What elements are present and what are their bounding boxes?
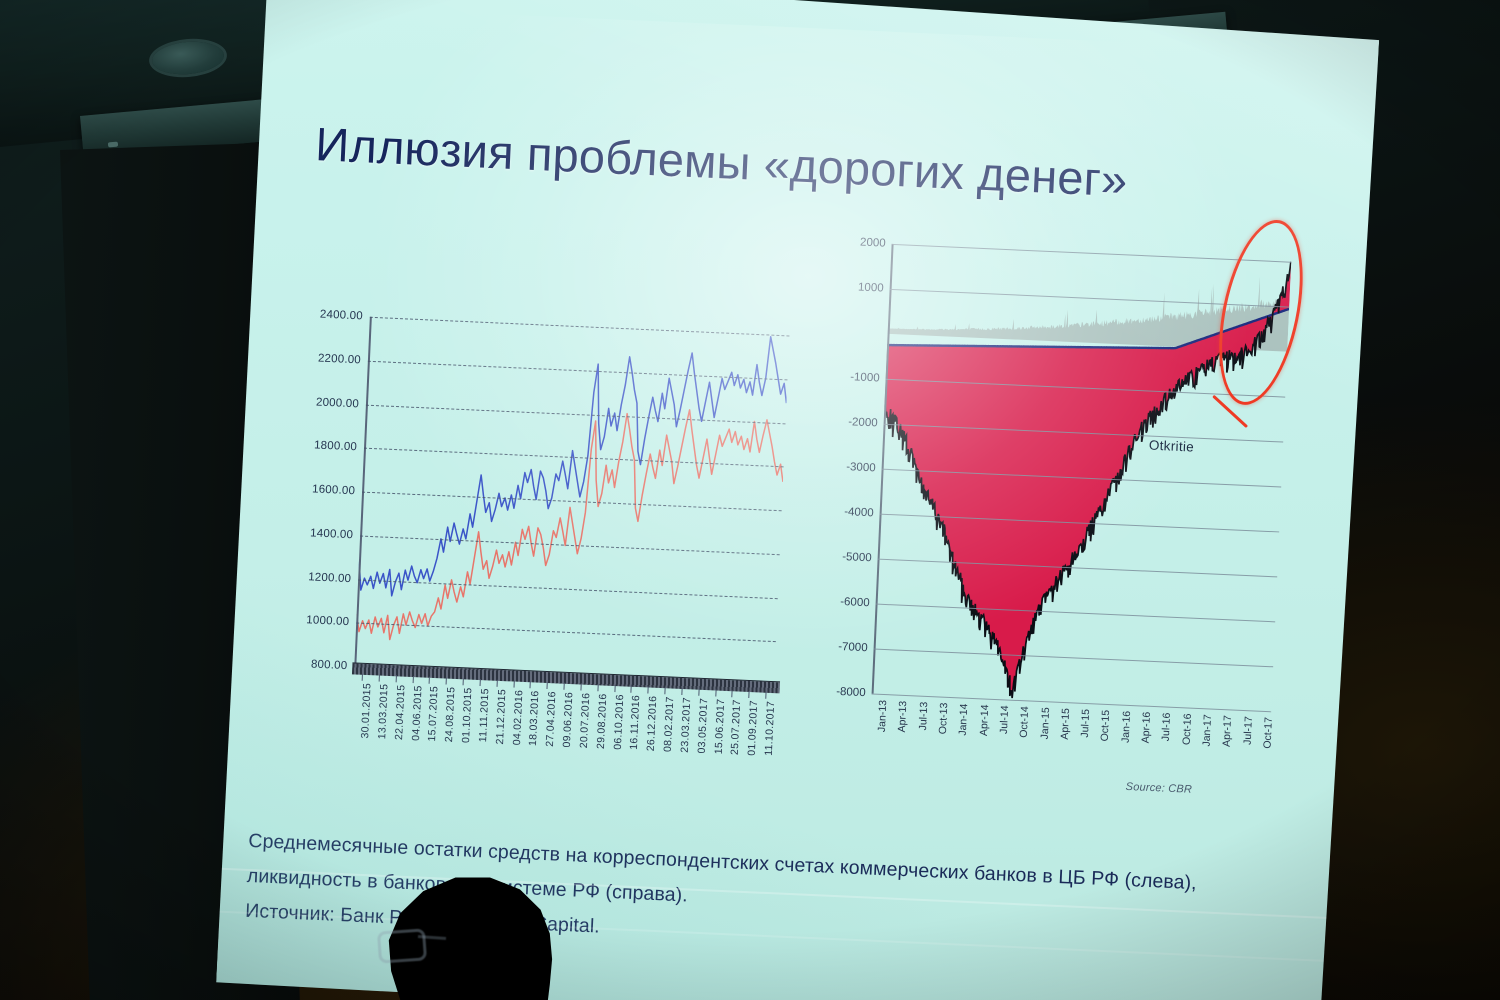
- x-tick-mark: [563, 683, 564, 690]
- y-tick-label: -3000: [846, 461, 876, 474]
- y-tick-label: -6000: [840, 596, 870, 609]
- x-tick-label: 03.05.2017: [695, 698, 709, 754]
- x-tick-mark: [395, 675, 396, 682]
- projection-screen: Иллюзия проблемы «дорогих денег» 2400.00…: [216, 0, 1381, 1000]
- slide: Иллюзия проблемы «дорогих денег» 2400.00…: [216, 0, 1381, 1000]
- x-tick-label: 01.09.2017: [746, 700, 760, 756]
- x-tick-label: Apr-16: [1140, 711, 1153, 743]
- chart-right-x-tick-labels: Jan-13Apr-13Jul-13Oct-13Jan-14Apr-14Jul-…: [867, 699, 1271, 812]
- x-tick-mark: [530, 681, 531, 688]
- y-tick-label: 1000: [858, 281, 884, 294]
- x-tick-mark: [429, 677, 430, 684]
- x-tick-mark: [631, 686, 632, 693]
- x-tick-label: 01.10.2015: [460, 687, 474, 743]
- chart-left-plot: 2400.002200.002000.001800.001600.001400.…: [354, 317, 789, 685]
- x-tick-label: Jul-16: [1160, 712, 1173, 741]
- x-tick-label: 16.11.2016: [628, 695, 642, 750]
- y-tick-label: -5000: [842, 551, 872, 564]
- x-tick-label: Jul-13: [917, 702, 930, 731]
- x-tick-label: 09.06.2016: [561, 692, 575, 748]
- x-tick-label: Apr-14: [977, 704, 990, 736]
- x-tick-label: 15.07.2015: [426, 686, 440, 742]
- x-tick-label: 30.01.2015: [359, 683, 373, 739]
- x-tick-label: 11.10.2017: [763, 701, 777, 756]
- glasses-icon: [377, 928, 427, 963]
- x-tick-label: 08.02.2017: [662, 696, 676, 752]
- x-tick-label: Jan-15: [1038, 707, 1051, 740]
- x-tick-label: Apr-17: [1221, 715, 1234, 747]
- x-tick-mark: [765, 692, 766, 699]
- x-tick-label: 27.04.2016: [544, 691, 558, 747]
- chart-left-x-tick-labels: 30.01.201513.03.201522.04.201504.06.2015…: [349, 682, 773, 811]
- x-tick-label: Apr-13: [896, 701, 909, 733]
- x-tick-label: 20.07.2016: [578, 692, 592, 748]
- x-tick-mark: [378, 675, 379, 682]
- y-tick-label: 1200.00: [308, 571, 351, 585]
- y-tick-label: -7000: [838, 641, 868, 654]
- x-tick-label: Apr-15: [1059, 708, 1072, 740]
- x-tick-label: Jan-17: [1201, 714, 1214, 747]
- x-tick-label: Jul-17: [1241, 716, 1254, 745]
- photo-scene: Иллюзия проблемы «дорогих денег» 2400.00…: [0, 0, 1500, 1000]
- x-tick-label: 25.07.2017: [729, 699, 743, 755]
- chart-left: 2400.002200.002000.001800.001600.001400.…: [276, 296, 808, 818]
- x-tick-mark: [698, 689, 699, 696]
- x-tick-label: 24.08.2015: [443, 687, 457, 743]
- y-tick-label: -1000: [850, 371, 880, 384]
- x-tick-mark: [664, 687, 665, 694]
- x-tick-label: Oct-17: [1262, 717, 1275, 749]
- x-tick-label: 15.06.2017: [712, 698, 726, 754]
- page-title: Иллюзия проблемы «дорогих денег»: [314, 116, 1216, 211]
- x-tick-mark: [479, 679, 480, 686]
- y-tick-label: -4000: [844, 506, 874, 519]
- chart-right: 20001000-1000-2000-3000-4000-5000-6000-7…: [803, 227, 1327, 809]
- x-tick-label: 04.02.2016: [510, 690, 524, 746]
- x-tick-label: Oct-15: [1099, 710, 1112, 742]
- x-tick-label: Jul-14: [998, 705, 1011, 734]
- y-tick-label: 1800.00: [314, 440, 357, 454]
- y-tick-label: -8000: [836, 686, 866, 699]
- x-tick-label: Oct-13: [937, 702, 950, 734]
- series-red-series: [356, 395, 786, 656]
- y-tick-label: 1000.00: [306, 614, 349, 628]
- x-tick-mark: [648, 687, 649, 694]
- x-tick-mark: [614, 685, 615, 692]
- x-tick-mark: [446, 678, 447, 685]
- x-tick-label: Jan-16: [1119, 711, 1132, 744]
- x-tick-mark: [463, 678, 464, 685]
- x-tick-label: 21.12.2015: [494, 689, 508, 745]
- x-tick-mark: [513, 681, 514, 688]
- x-tick-label: 22.04.2015: [393, 684, 407, 740]
- x-tick-label: 23.03.2017: [679, 697, 693, 753]
- x-tick-label: Oct-16: [1180, 713, 1193, 745]
- y-tick-label: 1600.00: [312, 483, 355, 497]
- y-tick-label: -2000: [848, 416, 878, 429]
- x-tick-mark: [580, 684, 581, 691]
- y-tick-label: 800.00: [311, 658, 348, 672]
- x-tick-label: Oct-14: [1018, 706, 1031, 738]
- x-tick-label: 11.11.2015: [477, 688, 491, 742]
- x-tick-mark: [412, 676, 413, 683]
- x-tick-mark: [362, 674, 363, 681]
- projection-screen-wrap: Иллюзия проблемы «дорогих денег» 2400.00…: [0, 0, 1500, 1000]
- x-tick-label: 26.12.2016: [645, 695, 659, 751]
- x-tick-label: Jan-13: [876, 700, 889, 733]
- x-tick-mark: [496, 680, 497, 687]
- x-tick-mark: [681, 688, 682, 695]
- x-tick-mark: [715, 689, 716, 696]
- x-tick-mark: [748, 691, 749, 698]
- x-tick-label: Jan-14: [957, 703, 970, 736]
- y-tick-label: 1400.00: [310, 527, 353, 541]
- x-tick-label: 13.03.2015: [376, 684, 390, 740]
- x-tick-label: 18.03.2016: [527, 690, 541, 746]
- chart-right-annotation-otkritie: Otkritie: [1149, 438, 1195, 455]
- x-tick-mark: [732, 690, 733, 697]
- x-tick-mark: [597, 684, 598, 691]
- x-tick-label: 04.06.2015: [410, 685, 424, 741]
- y-tick-label: 2200.00: [318, 352, 361, 366]
- y-tick-label: 2400.00: [320, 309, 363, 323]
- x-tick-label: Jul-15: [1079, 709, 1092, 738]
- x-tick-label: 29.08.2016: [595, 693, 609, 749]
- y-tick-label: 2000: [860, 237, 886, 250]
- x-tick-mark: [547, 682, 548, 689]
- x-tick-label: 06.10.2016: [611, 694, 625, 750]
- y-tick-label: 2000.00: [316, 396, 359, 410]
